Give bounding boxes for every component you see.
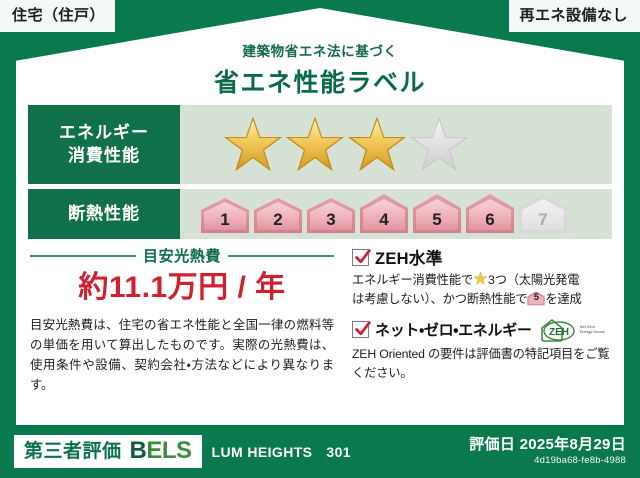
lower-section: 目安光熱費 約11.1万円 / 年 目安光熱費は、住宅の省エネ性能と全国一律の燃… [28, 245, 612, 395]
house-icon-level-2: 2 [253, 197, 303, 235]
zeh-desc-part2: は考慮しない）、かつ断熱性能で [352, 292, 527, 306]
utility-cost-panel: 目安光熱費 約11.1万円 / 年 目安光熱費は、住宅の省エネ性能と全国一律の燃… [28, 245, 340, 395]
page-title: 省エネ性能ラベル [0, 63, 640, 99]
house-icon-inline-badge: 5 [527, 291, 545, 306]
house-icon-level-4: 4 [359, 193, 409, 235]
energy-label-root: 住宅（住戸） 再エネ設備なし 建築物省エネ法に基づく 省エネ性能ラベル エネルギ… [0, 0, 640, 478]
building-type-tag: 住宅（住戸） [0, 0, 115, 32]
zeh-standard-description: エネルギー消費性能で3つ（太陽光発電は考慮しない）、かつ断熱性能で5を達成 [352, 271, 612, 310]
insulation-performance-label: 断熱性能 [28, 189, 180, 239]
house-level-number: 6 [485, 211, 494, 235]
net-zero-energy-block: ネット・ゼロ・エネルギー ZEH Net Zero Energy House [352, 317, 612, 384]
house-level-number: 5 [432, 211, 441, 235]
third-party-eval-label: 第三者評価 [24, 442, 122, 461]
zeh-desc-star-count: 3つ（太陽光発電 [488, 273, 579, 287]
house-level-number: 2 [273, 211, 282, 235]
energy-performance-value [180, 105, 612, 184]
house-icon-level-1: 1 [200, 197, 250, 235]
unit-number: 301 [326, 444, 351, 460]
label-header: 建築物省エネ法に基づく 省エネ性能ラベル [0, 40, 640, 99]
insulation-performance-row: 断熱性能 [28, 189, 612, 239]
evaluation-date: 評価日 2025年8月29日 [469, 437, 626, 454]
house-level-number: 3 [326, 211, 335, 235]
building-name: LUM HEIGHTS [212, 444, 313, 460]
star-rating [222, 114, 470, 176]
star-icon-empty-4 [408, 114, 470, 176]
star-icon-filled-3 [346, 114, 408, 176]
renewable-equipment-tag: 再エネ設備なし [509, 0, 640, 32]
house-icon-level-3: 3 [306, 197, 356, 235]
star-icon-filled-2 [284, 114, 346, 176]
zeh-desc-part3: を達成 [545, 292, 581, 306]
net-zero-title-row: ネット・ゼロ・エネルギー ZEH Net Zero Energy House [352, 317, 612, 343]
zeh-logo-subtext: Net Zero Energy House [580, 325, 605, 334]
label-footer: 第三者評価 BELS LUM HEIGHTS 301 評価日 2025年8月29… [0, 425, 640, 478]
checkbox-checked-icon [352, 249, 369, 266]
house-icon-level-7: 7 [518, 193, 568, 235]
star-icon-filled-1 [222, 114, 284, 176]
net-zero-description: ZEH Oriented の要件は評価書の特記項目をご覧ください。 [352, 345, 612, 384]
svg-text:ZEH: ZEH [549, 327, 569, 338]
label-body: エネルギー 消費性能 [16, 95, 624, 425]
bels-logo-b: B [130, 437, 147, 464]
bels-badge: 第三者評価 BELS [14, 435, 202, 468]
zeh-logo-sub-line2: Energy House [580, 329, 605, 334]
zeh-standard-title: ZEH水準 [375, 245, 443, 269]
utility-cost-heading: 目安光熱費 [30, 245, 334, 266]
zeh-logo-icon: ZEH Net Zero Energy House [539, 317, 605, 343]
energy-performance-label: エネルギー 消費性能 [28, 105, 180, 184]
zeh-standard-block: ZEH水準 エネルギー消費性能で3つ（太陽光発電は考慮しない）、かつ断熱性能で5… [352, 245, 612, 310]
energy-label-line2: 消費性能 [68, 146, 140, 165]
star-icon-inline [473, 271, 488, 286]
net-zero-title: ネット・ゼロ・エネルギー [375, 319, 532, 340]
house-inline-number: 5 [527, 291, 545, 306]
energy-label-line1: エネルギー [59, 123, 149, 142]
bels-logo: BELS [130, 439, 192, 463]
house-level-number: 7 [538, 211, 547, 235]
evaluation-id: 4d19ba68-fe8b-4988 [469, 455, 626, 466]
house-icon-level-5: 5 [412, 193, 462, 235]
house-level-number: 4 [379, 211, 388, 235]
utility-cost-title: 目安光熱費 [143, 245, 221, 266]
zeh-standard-title-row: ZEH水準 [352, 245, 612, 269]
insulation-level-scale: 1 2 3 [200, 193, 568, 235]
rule-left [30, 255, 136, 257]
rule-right [228, 255, 334, 257]
zeh-desc-part1: エネルギー消費性能で [352, 273, 473, 287]
bels-logo-els: ELS [146, 437, 191, 464]
evaluation-info: 評価日 2025年8月29日 4d19ba68-fe8b-4988 [469, 437, 626, 467]
utility-cost-amount: 約11.1万円 / 年 [30, 269, 334, 307]
house-level-number: 1 [220, 211, 229, 235]
insulation-performance-value: 1 2 3 [180, 189, 612, 239]
header-subtitle: 建築物省エネ法に基づく [0, 40, 640, 60]
energy-performance-row: エネルギー 消費性能 [28, 105, 612, 184]
checkbox-checked-icon [352, 321, 369, 338]
zeh-panel: ZEH水準 エネルギー消費性能で3つ（太陽光発電は考慮しない）、かつ断熱性能で5… [340, 245, 612, 395]
utility-cost-note: 目安光熱費は、住宅の省エネ性能と全国一律の燃料等の単価を用いて算出したものです。… [30, 315, 334, 395]
house-icon-level-6: 6 [465, 193, 515, 235]
